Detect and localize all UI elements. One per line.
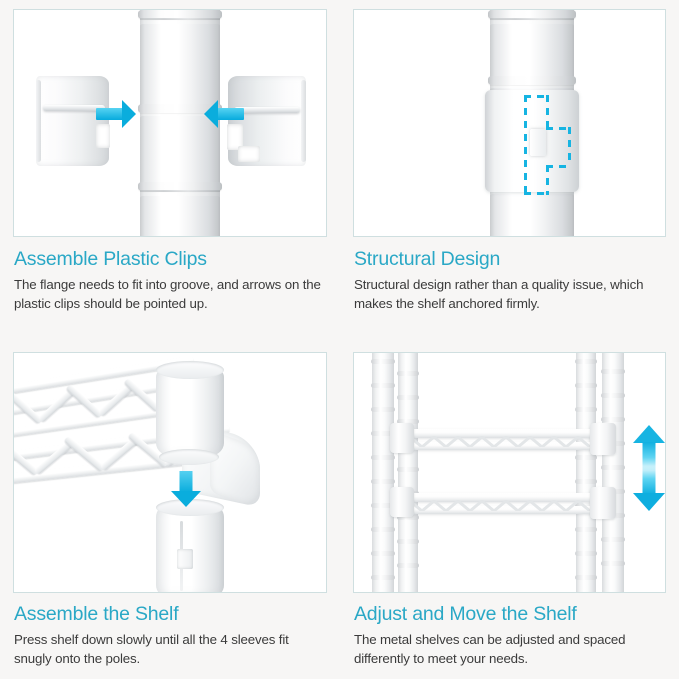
rack-pole-back-left: [372, 352, 394, 593]
rack-pole-front-left: [398, 352, 418, 593]
shelf-sleeve: [156, 367, 224, 457]
figure-pole-with-two-clips: [13, 9, 327, 237]
caption-adjust-and-move-the-shelf: Adjust and Move the Shelf The metal shel…: [353, 593, 666, 669]
shelf-sleeve-top-cap: [156, 361, 224, 379]
dashed-highlight-outline: [524, 95, 569, 195]
panel-heading: Structural Design: [354, 249, 665, 271]
caption-assemble-plastic-clips: Assemble Plastic Clips The flange needs …: [13, 237, 327, 314]
lower-shelf-truss-icon: [398, 500, 598, 511]
arrow-down-icon: [171, 471, 201, 507]
upper-shelf-collar-right: [590, 423, 616, 455]
instruction-grid: Assemble Plastic Clips The flange needs …: [0, 0, 679, 679]
lower-shelf: [392, 493, 604, 515]
panel-heading: Assemble Plastic Clips: [14, 249, 326, 271]
panel-body: Structural design rather than a quality …: [354, 276, 665, 314]
rack-pole-front-right: [602, 352, 624, 593]
shelf-sleeve-bottom-rim: [159, 449, 219, 465]
panel-heading: Adjust and Move the Shelf: [354, 604, 665, 626]
panel-body: Press shelf down slowly until all the 4 …: [14, 631, 326, 669]
lower-shelf-collar-right: [590, 487, 616, 519]
arrow-left-icon: [204, 100, 244, 128]
upper-shelf-collar-left: [390, 423, 414, 453]
panel-body: The metal shelves can be adjusted and sp…: [354, 631, 665, 669]
caption-assemble-the-shelf: Assemble the Shelf Press shelf down slow…: [13, 593, 327, 669]
rack-pole-back-right: [576, 352, 596, 593]
upper-shelf: [392, 429, 604, 451]
lower-shelf-collar-left: [390, 487, 414, 517]
caption-structural-design: Structural Design Structural design rath…: [353, 237, 666, 314]
arrow-right-icon: [96, 100, 136, 128]
pole-sleeve-notch: [177, 549, 193, 569]
panel-structural-design: Structural Design Structural design rath…: [340, 0, 679, 348]
figure-pole-with-clip-highlighted: [353, 9, 666, 237]
figure-rack-with-two-shelves: [353, 352, 666, 593]
panel-assemble-the-shelf: Assemble the Shelf Press shelf down slow…: [0, 348, 340, 679]
arrow-up-down-icon: [632, 425, 666, 511]
panel-body: The flange needs to fit into groove, and…: [14, 276, 326, 314]
panel-heading: Assemble the Shelf: [14, 604, 326, 626]
panel-adjust-and-move-the-shelf: Adjust and Move the Shelf The metal shel…: [340, 348, 679, 679]
panel-assemble-plastic-clips: Assemble Plastic Clips The flange needs …: [0, 0, 340, 348]
figure-wire-shelf-over-sleeve: [13, 352, 327, 593]
upper-shelf-truss-icon: [398, 436, 598, 447]
